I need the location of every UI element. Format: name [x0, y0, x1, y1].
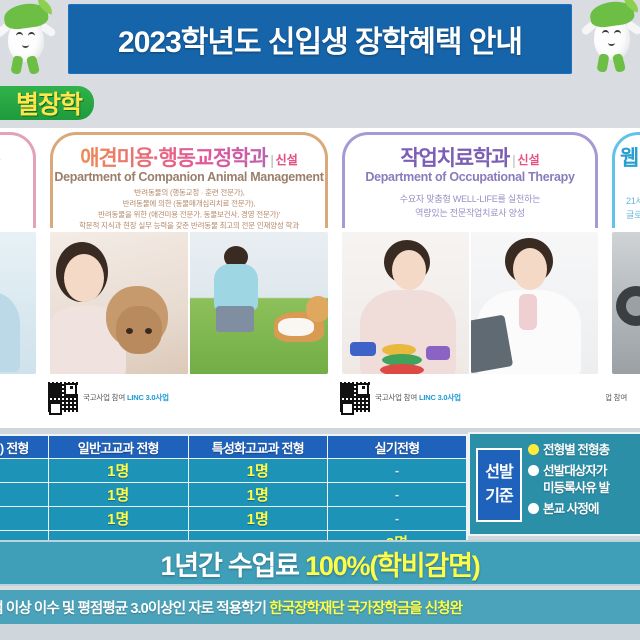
photo-shape — [513, 248, 547, 290]
photo-dog-training — [190, 232, 328, 374]
qr-caption: 국고사업 참여 — [606, 392, 627, 403]
photo-shape — [216, 306, 254, 332]
mascot-right — [582, 0, 640, 74]
department-card-partial-left[interactable]: 신설 — [0, 128, 42, 428]
criteria-text-second-line: 미등록사유 발 — [543, 480, 609, 497]
criteria-text: 본교 사정에 — [543, 501, 599, 518]
qr-code-icon[interactable] — [340, 382, 370, 412]
photo-shape — [126, 328, 133, 334]
card-new-badge: 신설 — [518, 153, 540, 167]
mascot-left — [0, 0, 56, 76]
photo-shape — [626, 296, 640, 316]
department-card-partial-right[interactable]: 웹 21세 글로벌 국고사업 참여 — [606, 128, 640, 428]
selection-quota-table: 일반학생(면접) 전형 일반고교과 전형 특성화고교과 전형 실기전형 1명 1… — [0, 434, 468, 556]
ribbon-label: 별장학 — [16, 86, 82, 120]
table-row: 1명 1명 1명 - — [0, 483, 467, 507]
table-cell: 1명 — [0, 483, 49, 507]
header-banner: 2023학년도 신입생 장학혜택 안내 — [68, 4, 572, 74]
mascot-mouth — [22, 42, 29, 48]
qr-caption: 국고사업 참여 LINC 3.0사업 — [375, 392, 461, 403]
tuition-benefit-prefix: 1년간 수업료 — [160, 551, 305, 581]
table-col-header: 실기전형 — [328, 435, 468, 459]
card-photo-row — [612, 232, 640, 374]
qr-code-cell[interactable]: 국고사업 참여 LINC 3.0사업 — [48, 382, 169, 412]
card-title: 작업치료학과|신설 — [336, 142, 604, 172]
card-subtitle: Department of Companion Animal Managemen… — [44, 170, 334, 184]
table-col-header: 일반학생(면접) 전형 — [0, 435, 49, 459]
card-photo-row — [0, 232, 36, 374]
card-qr-row: 국고사업 참여 LINC 3.0사업 — [44, 376, 334, 420]
table-col-header: 특성화고교과 전형 — [188, 435, 328, 459]
eligibility-condition-banner: 기 12학점 이상 이수 및 평점평균 3.0이상인 자로 적용학기 한국장학재… — [0, 590, 640, 624]
tuition-benefit-highlight: 100%(학비감면) — [305, 551, 479, 581]
mascot-mouth — [608, 40, 615, 46]
qr-eye — [356, 383, 369, 396]
criteria-item: 전형별 전형총 — [528, 442, 640, 459]
criteria-text: 전형별 전형총 — [543, 442, 609, 459]
card-new-badge: 신설 — [276, 153, 298, 167]
card-title: 신설 — [0, 142, 42, 166]
department-card-strip: 신설 애견미용·행동교정학과|신설 Department of Companio… — [0, 128, 640, 428]
bullet-icon — [528, 503, 539, 514]
card-title: 웹 — [606, 142, 640, 172]
table-row: 1명 1명 1명 - — [0, 459, 467, 483]
table-cell: 1명 — [0, 459, 49, 483]
table-cell: 1명 — [49, 483, 189, 507]
tuition-benefit-text: 1년간 수업료 100%(학비감면) — [160, 544, 479, 583]
criteria-text: 선발대상자가 — [543, 463, 609, 480]
table-col-header: 일반고교과 전형 — [49, 435, 189, 459]
table-cell: 1명 — [49, 459, 189, 483]
qr-code-icon[interactable] — [48, 382, 78, 412]
photo-shape — [380, 364, 424, 374]
photo-shape — [116, 306, 162, 354]
criteria-badge-line2: 기준 — [485, 485, 512, 509]
card-subtitle: Department of Occupational Therapy — [336, 170, 604, 184]
criteria-text-group: 선발대상자가 미등록사유 발 — [543, 463, 609, 497]
eligibility-condition-text: 기 12학점 이상 이수 및 평점평균 3.0이상인 자로 적용학기 한국장학재… — [0, 597, 462, 618]
photo-shape — [350, 342, 376, 356]
mascot-leg-left — [597, 53, 610, 72]
scholarship-category-ribbon: 별장학 — [0, 86, 94, 120]
photo-shape — [426, 346, 450, 360]
card-title: 애견미용·행동교정학과|신설 — [44, 142, 334, 172]
selection-criteria-badge: 선발 기준 — [476, 448, 522, 522]
eligibility-plain-text: 기 12학점 이상 이수 및 평점평균 3.0이상인 자로 적용학기 — [0, 601, 269, 617]
selection-criteria-panel: 선발 기준 전형별 전형총 선발대상자가 미등록사유 발 본교 사정에 — [468, 432, 640, 536]
mascot-eye-right — [28, 32, 35, 40]
table-cell: 1명 — [0, 507, 49, 531]
table-row: 1명 1명 1명 - — [0, 507, 467, 531]
qr-caption-prefix: 국고사업 참여 — [83, 393, 125, 402]
qr-caption: 국고사업 참여 LINC 3.0사업 — [83, 392, 169, 403]
bullet-icon — [528, 465, 539, 476]
card-photo-row — [50, 232, 328, 374]
photo-therapist — [471, 232, 598, 374]
page-title: 2023학년도 신입생 장학혜택 안내 — [68, 4, 572, 74]
table-cell: 1명 — [188, 483, 328, 507]
criteria-badge-line1: 선발 — [485, 461, 512, 485]
department-card-occupational-therapy[interactable]: 작업치료학과|신설 Department of Occupational The… — [336, 128, 604, 428]
qr-code-cell[interactable]: 국고사업 참여 LINC 3.0사업 — [340, 382, 461, 412]
qr-caption-link: LINC 3.0사업 — [419, 393, 461, 402]
selection-section: 일반학생(면접) 전형 일반고교과 전형 특성화고교과 전형 실기전형 1명 1… — [0, 428, 640, 540]
card-qr-row: 국고사업 참여 — [606, 376, 640, 420]
table-cell: - — [328, 459, 468, 483]
mascot-leg-left — [11, 55, 24, 74]
card-description: 21세 글로벌 — [616, 194, 640, 223]
photo-shape — [392, 250, 426, 290]
card-title-divider: | — [512, 152, 514, 168]
photo-shape — [519, 294, 537, 330]
card-description: '반려동물의 (행동교정 · 훈련 전문가), 반려동물에 의한 (동물매개심리… — [54, 188, 324, 232]
criteria-item: 본교 사정에 — [528, 501, 640, 518]
photo-workshop — [612, 232, 640, 374]
mascot-eye-left — [16, 32, 23, 40]
eligibility-highlight-text: 한국장학재단 국가장학금을 신청완 — [269, 601, 462, 617]
mascot-leg-right — [612, 53, 626, 73]
card-qr-row: 국고사업 참여 LINC 3.0사업 — [336, 376, 604, 420]
card-qr-row — [0, 376, 42, 420]
card-title-text: 작업치료학과 — [400, 147, 509, 170]
qr-eye — [64, 383, 77, 396]
page-header: 2023학년도 신입생 장학혜택 안내 — [0, 0, 640, 78]
table-cell: 1명 — [188, 459, 328, 483]
photo-dog-grooming — [50, 232, 188, 374]
mascot-eye-left — [602, 30, 609, 38]
photo-shape — [0, 292, 20, 372]
table-header-row: 일반학생(면접) 전형 일반고교과 전형 특성화고교과 전형 실기전형 — [0, 435, 467, 459]
photo-shape — [278, 318, 314, 336]
photo-medical — [0, 232, 36, 374]
qr-eye-dot — [52, 386, 55, 389]
card-description: 수요자 맞춤형 WELL-LIFE를 실천하는 역량있는 전문작업치료사 양성 — [346, 192, 594, 221]
card-new-badge: 신설 — [0, 148, 1, 162]
table-cell: 1명 — [49, 507, 189, 531]
photo-therapy-session — [342, 232, 469, 374]
bullet-icon — [528, 444, 539, 455]
card-title-divider: | — [270, 152, 272, 168]
photo-shape — [64, 254, 104, 302]
page-footer-strip — [0, 624, 640, 640]
department-card-companion-animal[interactable]: 애견미용·행동교정학과|신설 Department of Companion A… — [44, 128, 334, 428]
qr-eye-dot — [344, 386, 347, 389]
photo-shape — [306, 296, 328, 322]
qr-caption-link: LINC 3.0사업 — [127, 393, 169, 402]
qr-caption-prefix: 국고사업 참여 — [375, 393, 417, 402]
mascot-leg-right — [26, 55, 40, 75]
criteria-list: 전형별 전형총 선발대상자가 미등록사유 발 본교 사정에 — [528, 442, 640, 518]
tuition-benefit-banner: 1년간 수업료 100%(학비감면) — [0, 540, 640, 586]
qr-code-cell[interactable]: 국고사업 참여 — [606, 382, 627, 412]
photo-shape — [214, 264, 258, 310]
table-cell: 1명 — [188, 507, 328, 531]
card-title-text: 애견미용·행동교정학과 — [80, 147, 267, 170]
card-photo-row — [342, 232, 598, 374]
table-head: 일반학생(면접) 전형 일반고교과 전형 특성화고교과 전형 실기전형 — [0, 435, 467, 459]
table-cell: - — [328, 507, 468, 531]
table-cell: - — [328, 483, 468, 507]
mascot-eye-right — [614, 30, 621, 38]
photo-shape — [145, 328, 152, 334]
criteria-item: 선발대상자가 미등록사유 발 — [528, 463, 640, 497]
